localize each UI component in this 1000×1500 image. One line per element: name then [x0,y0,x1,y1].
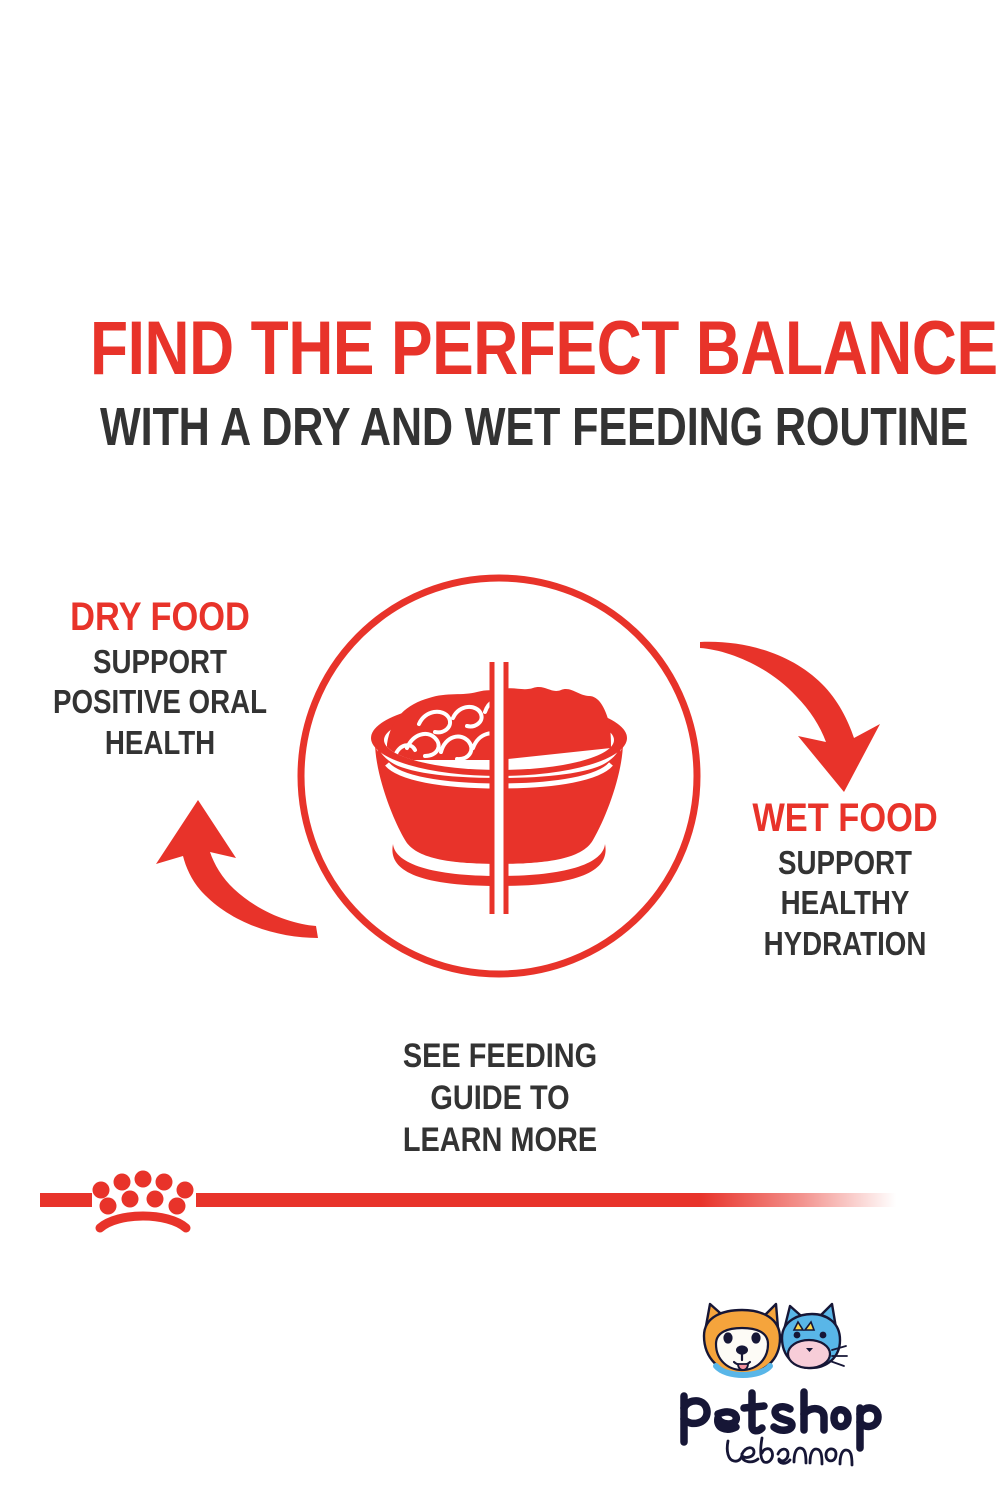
callout-dry-food: DRY FOOD SUPPORT POSITIVE ORAL HEALTH [10,596,310,763]
callout-dry-title: DRY FOOD [31,596,289,638]
petshop-lebanon-logo[interactable] [666,1296,882,1476]
callout-wet-line-1: SUPPORT HEALTHY [723,843,967,924]
dog-face-icon [704,1304,780,1375]
feeding-guide-cta: SEE FEEDING GUIDE TO LEARN MORE [300,1036,700,1161]
cta-line-2: GUIDE TO [330,1078,670,1120]
callout-wet-food: WET FOOD SUPPORT HEALTHY HYDRATION [700,797,990,964]
cta-line-3: LEARN MORE [330,1120,670,1162]
royal-canin-crown-icon [93,1171,194,1229]
callout-wet-title: WET FOOD [720,797,969,839]
cat-face-icon [782,1304,847,1368]
poster-canvas: FIND THE PERFECT BALANCE WITH A DRY AND … [0,0,1000,1500]
callout-dry-line-3: HEALTH [34,723,286,763]
callout-dry-line-2: POSITIVE ORAL [34,682,286,722]
callout-dry-body: SUPPORT POSITIVE ORAL HEALTH [34,642,286,763]
curved-arrow-up-left-icon [128,786,318,946]
cta-line-1: SEE FEEDING [330,1036,670,1078]
logo-wordmark-petshop [684,1392,878,1448]
callout-wet-body: SUPPORT HEALTHY HYDRATION [723,843,967,964]
curved-arrow-down-right-icon [698,628,898,796]
page-title: FIND THE PERFECT BALANCE [90,312,910,386]
callout-wet-line-2: HYDRATION [723,924,967,964]
logo-wordmark-lebanon [727,1438,852,1465]
headline-block: FIND THE PERFECT BALANCE WITH A DRY AND … [0,312,1000,454]
callout-dry-line-1: SUPPORT [34,642,286,682]
page-subtitle: WITH A DRY AND WET FEEDING ROUTINE [100,400,900,454]
split-pet-bowl-in-circle-icon [295,572,703,980]
brand-divider [0,1166,1000,1246]
